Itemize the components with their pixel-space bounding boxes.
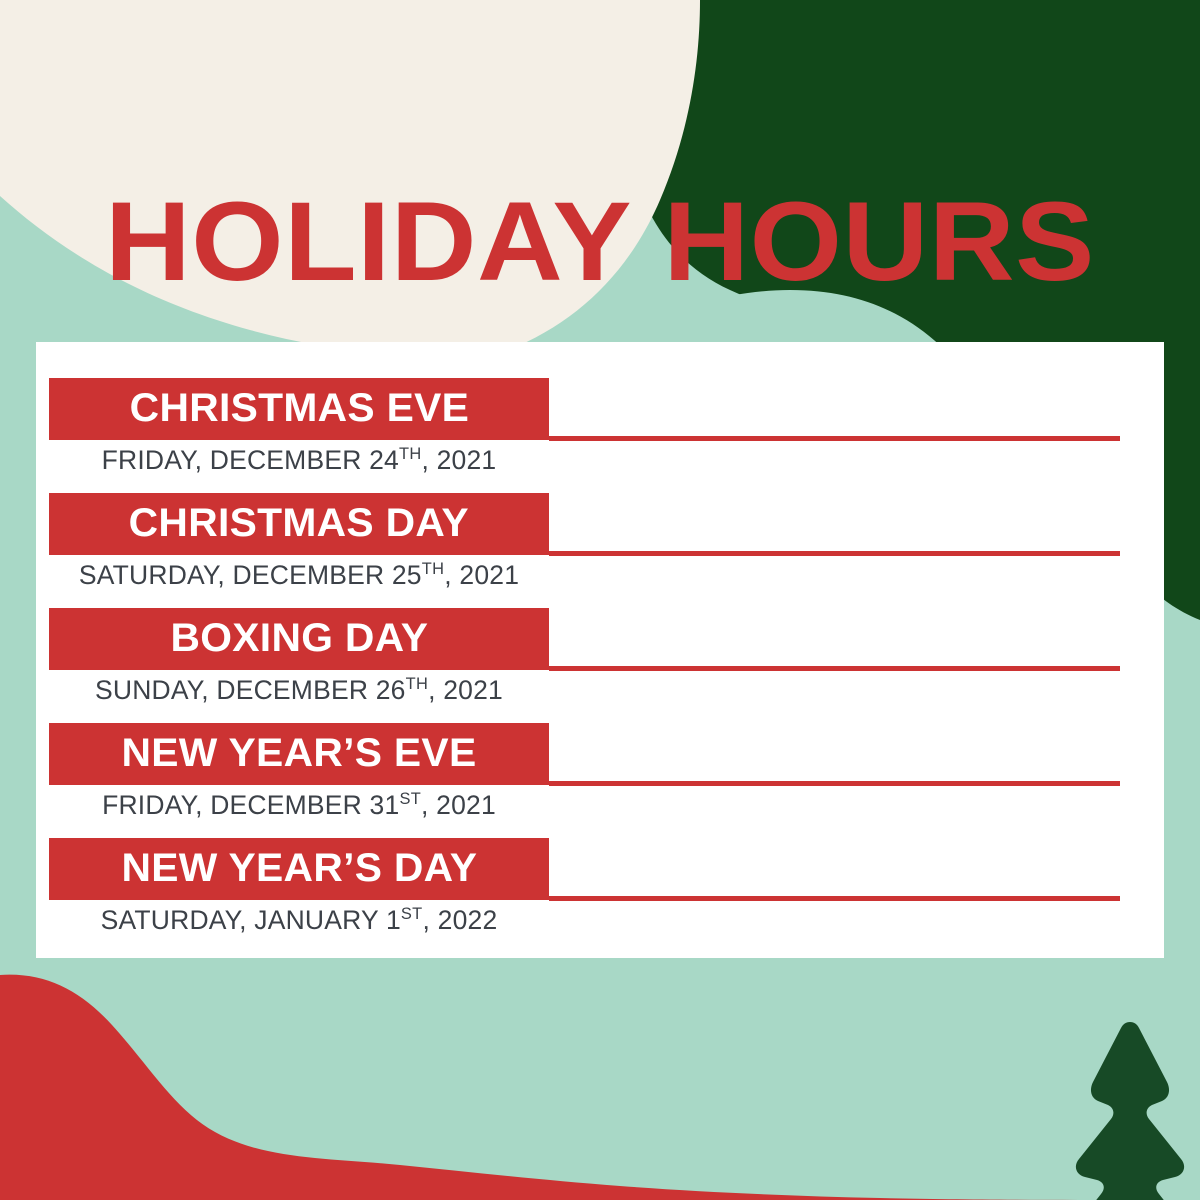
holiday-name-banner: NEW YEAR’S DAY <box>49 838 549 900</box>
holiday-name: NEW YEAR’S EVE <box>122 733 477 775</box>
holiday-date-ordinal: TH <box>399 445 422 463</box>
holiday-date-weekday: SATURDAY, DECEMBER 25 <box>79 560 422 590</box>
holiday-name-banner: BOXING DAY <box>49 608 549 670</box>
hours-write-in-line[interactable] <box>549 781 1120 786</box>
holiday-date-ordinal: ST <box>399 790 421 808</box>
hours-write-in-line[interactable] <box>549 666 1120 671</box>
holiday-date-weekday: FRIDAY, DECEMBER 31 <box>102 790 399 820</box>
holiday-date: SUNDAY, DECEMBER 26TH, 2021 <box>49 674 549 707</box>
holiday-date-ordinal: ST <box>401 905 423 923</box>
hours-write-in-line[interactable] <box>549 896 1120 901</box>
holiday-date: SATURDAY, JANUARY 1ST, 2022 <box>49 904 549 937</box>
holiday-name: NEW YEAR’S DAY <box>121 848 477 890</box>
holiday-date: SATURDAY, DECEMBER 25TH, 2021 <box>49 559 549 592</box>
holiday-date: FRIDAY, DECEMBER 24TH, 2021 <box>49 444 549 477</box>
schedule-card: CHRISTMAS EVE FRIDAY, DECEMBER 24TH, 202… <box>36 342 1164 958</box>
holiday-name: BOXING DAY <box>170 618 428 660</box>
schedule-list: CHRISTMAS EVE FRIDAY, DECEMBER 24TH, 202… <box>36 342 1164 958</box>
holiday-hours-poster: HOLIDAY HOURS CHRISTMAS EVE FRIDAY, DECE… <box>0 0 1200 1200</box>
holiday-date-ordinal: TH <box>422 560 445 578</box>
page-title: HOLIDAY HOURS <box>0 186 1200 298</box>
holiday-name-banner: NEW YEAR’S EVE <box>49 723 549 785</box>
holiday-date: FRIDAY, DECEMBER 31ST, 2021 <box>49 789 549 822</box>
schedule-row: NEW YEAR’S DAY SATURDAY, JANUARY 1ST, 20… <box>36 838 1164 953</box>
holiday-date-year: , 2021 <box>444 560 519 590</box>
holiday-date-year: , 2021 <box>421 790 496 820</box>
holiday-date-ordinal: TH <box>406 675 429 693</box>
page-title-text: HOLIDAY HOURS <box>105 186 1095 298</box>
schedule-row: BOXING DAY SUNDAY, DECEMBER 26TH, 2021 <box>36 608 1164 723</box>
holiday-date-year: , 2022 <box>423 905 498 935</box>
hours-write-in-line[interactable] <box>549 551 1120 556</box>
schedule-row: CHRISTMAS EVE FRIDAY, DECEMBER 24TH, 202… <box>36 378 1164 493</box>
holiday-name-banner: CHRISTMAS DAY <box>49 493 549 555</box>
holiday-date-weekday: FRIDAY, DECEMBER 24 <box>102 445 399 475</box>
holiday-date-weekday: SUNDAY, DECEMBER 26 <box>95 675 406 705</box>
holiday-date-year: , 2021 <box>421 445 496 475</box>
holiday-name: CHRISTMAS DAY <box>129 503 469 545</box>
holiday-date-year: , 2021 <box>428 675 503 705</box>
hours-write-in-line[interactable] <box>549 436 1120 441</box>
holiday-date-weekday: SATURDAY, JANUARY 1 <box>101 905 401 935</box>
schedule-row: CHRISTMAS DAY SATURDAY, DECEMBER 25TH, 2… <box>36 493 1164 608</box>
schedule-row: NEW YEAR’S EVE FRIDAY, DECEMBER 31ST, 20… <box>36 723 1164 838</box>
holiday-name: CHRISTMAS EVE <box>129 388 468 430</box>
holiday-name-banner: CHRISTMAS EVE <box>49 378 549 440</box>
